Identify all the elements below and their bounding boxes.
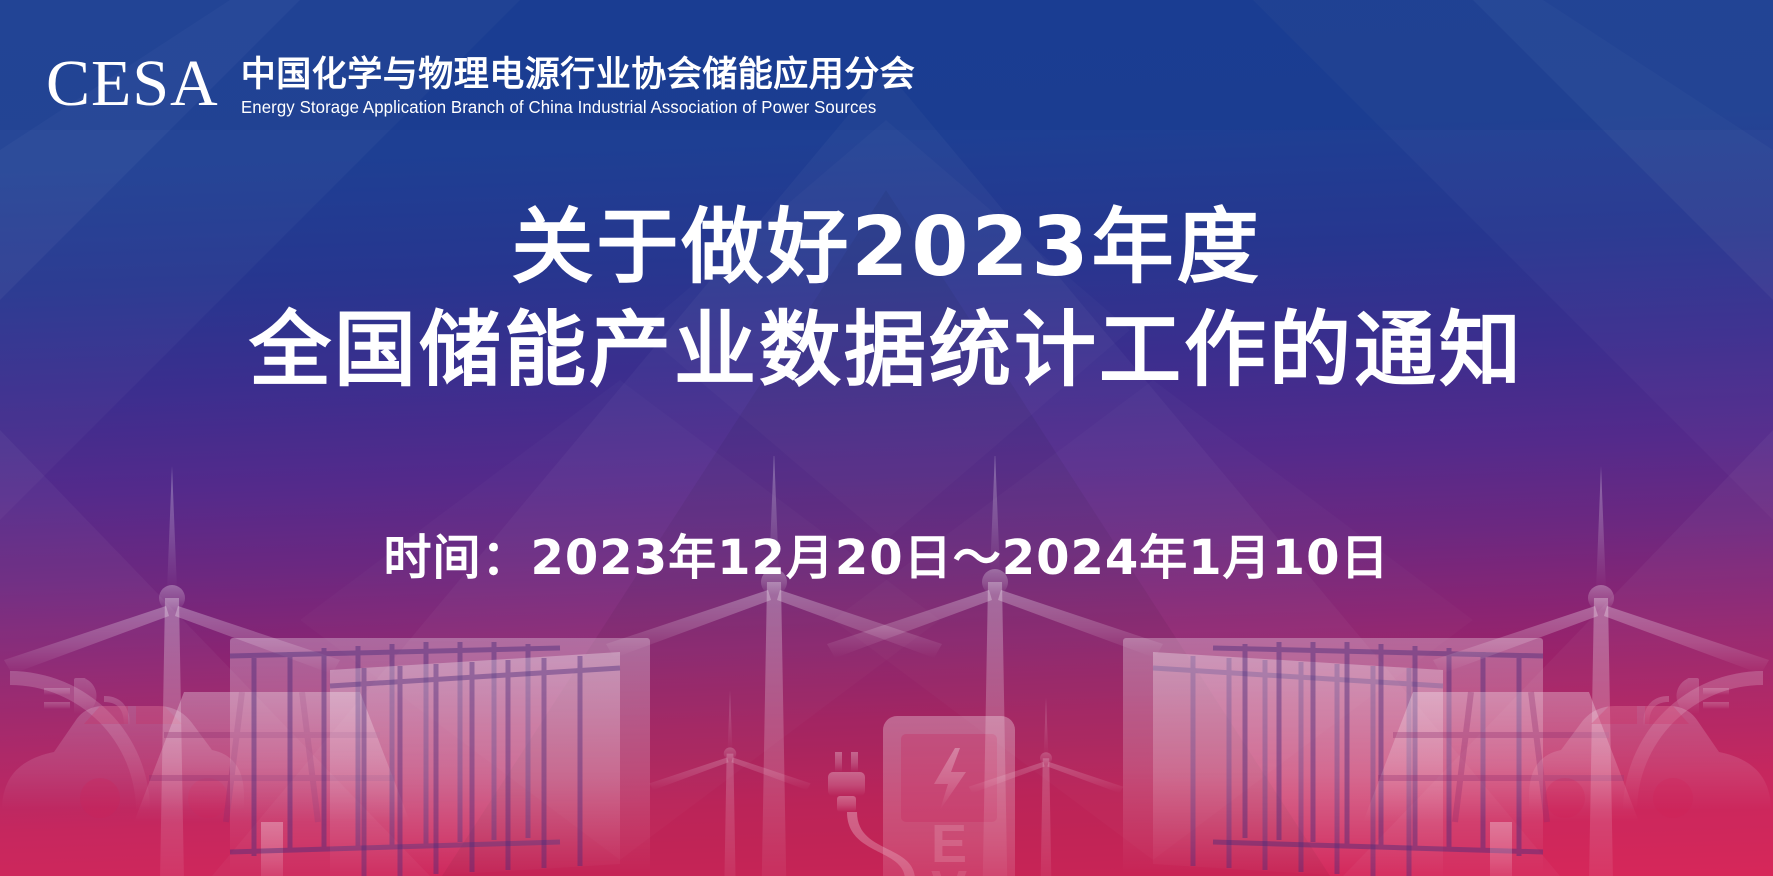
energy-scene-illustration: E V: [0, 456, 1773, 876]
energy-scene-svg: E V: [0, 456, 1773, 876]
org-name-chinese: 中国化学与物理电源行业协会储能应用分会: [241, 56, 916, 95]
logo-row: CESA 中国化学与物理电源行业协会储能应用分会 Energy Storage …: [46, 52, 915, 118]
title-block: 关于做好2023年度 全国储能产业数据统计工作的通知: [0, 196, 1773, 403]
org-name-english: Energy Storage Application Branch of Chi…: [241, 97, 889, 118]
date-range-subtitle: 时间：2023年12月20日～2024年1月10日: [0, 530, 1773, 588]
cesa-logo-wordmark: CESA: [46, 52, 219, 117]
title-line-1: 关于做好2023年度: [0, 196, 1773, 299]
org-name-block: 中国化学与物理电源行业协会储能应用分会 Energy Storage Appli…: [241, 52, 916, 118]
banner-root: E V: [0, 0, 1773, 876]
title-line-2: 全国储能产业数据统计工作的通知: [0, 299, 1773, 402]
